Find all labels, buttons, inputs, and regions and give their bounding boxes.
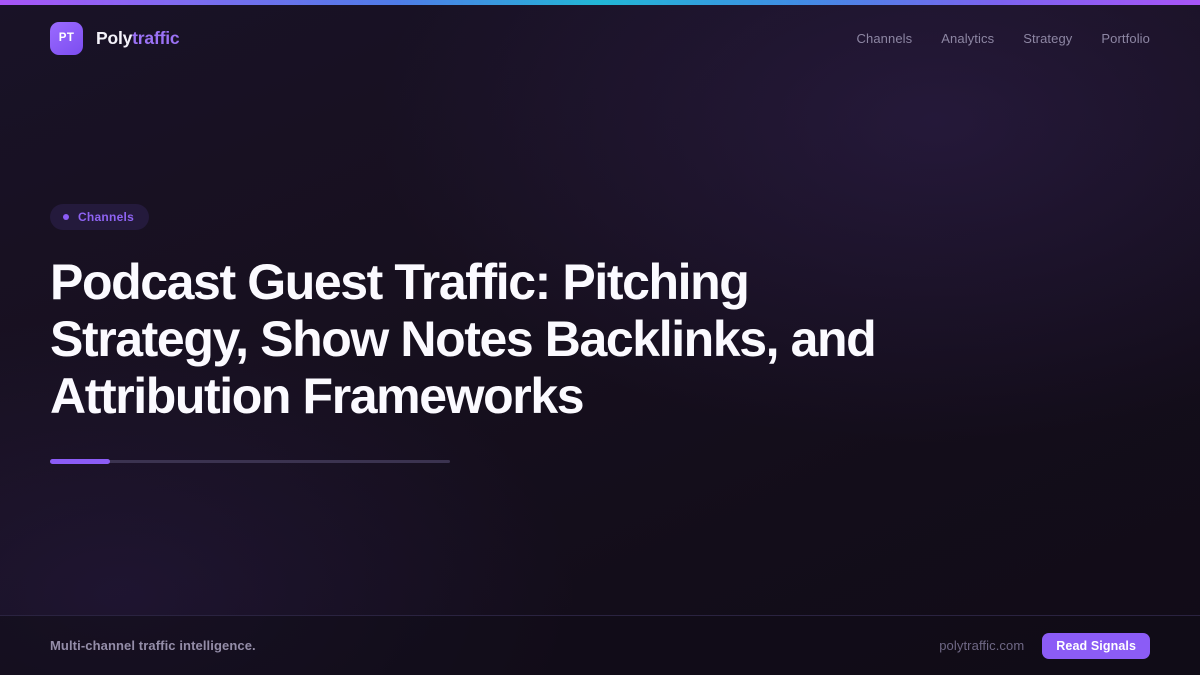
hero-section: Channels Podcast Guest Traffic: Pitching… [0,76,1200,615]
brand-word-primary: Poly [96,28,132,48]
page-title: Podcast Guest Traffic: Pitching Strategy… [50,254,955,425]
footer-tagline: Multi-channel traffic intelligence. [50,638,256,653]
title-underline-rule [50,460,450,463]
category-badge[interactable]: Channels [50,204,149,230]
brand-mark-icon: PT [50,22,83,55]
hero-content: Channels Podcast Guest Traffic: Pitching… [50,204,1150,463]
slide-canvas: PT Polytraffic Channels Analytics Strate… [0,0,1200,675]
nav-item-strategy[interactable]: Strategy [1023,31,1072,46]
site-header: PT Polytraffic Channels Analytics Strate… [0,0,1200,76]
brand-logo[interactable]: PT Polytraffic [50,22,179,55]
top-gradient-accent-bar [0,0,1200,5]
primary-navigation: Channels Analytics Strategy Portfolio [857,31,1150,46]
badge-label: Channels [78,210,134,224]
brand-wordmark: Polytraffic [96,28,179,49]
footer-website-url: polytraffic.com [939,638,1024,653]
brand-word-accent: traffic [132,28,179,48]
nav-item-analytics[interactable]: Analytics [941,31,994,46]
site-footer: Multi-channel traffic intelligence. poly… [0,615,1200,675]
nav-item-portfolio[interactable]: Portfolio [1101,31,1150,46]
nav-item-channels[interactable]: Channels [857,31,913,46]
read-signals-button[interactable]: Read Signals [1042,633,1150,659]
footer-actions: polytraffic.com Read Signals [939,633,1150,659]
badge-dot-icon [63,214,69,220]
